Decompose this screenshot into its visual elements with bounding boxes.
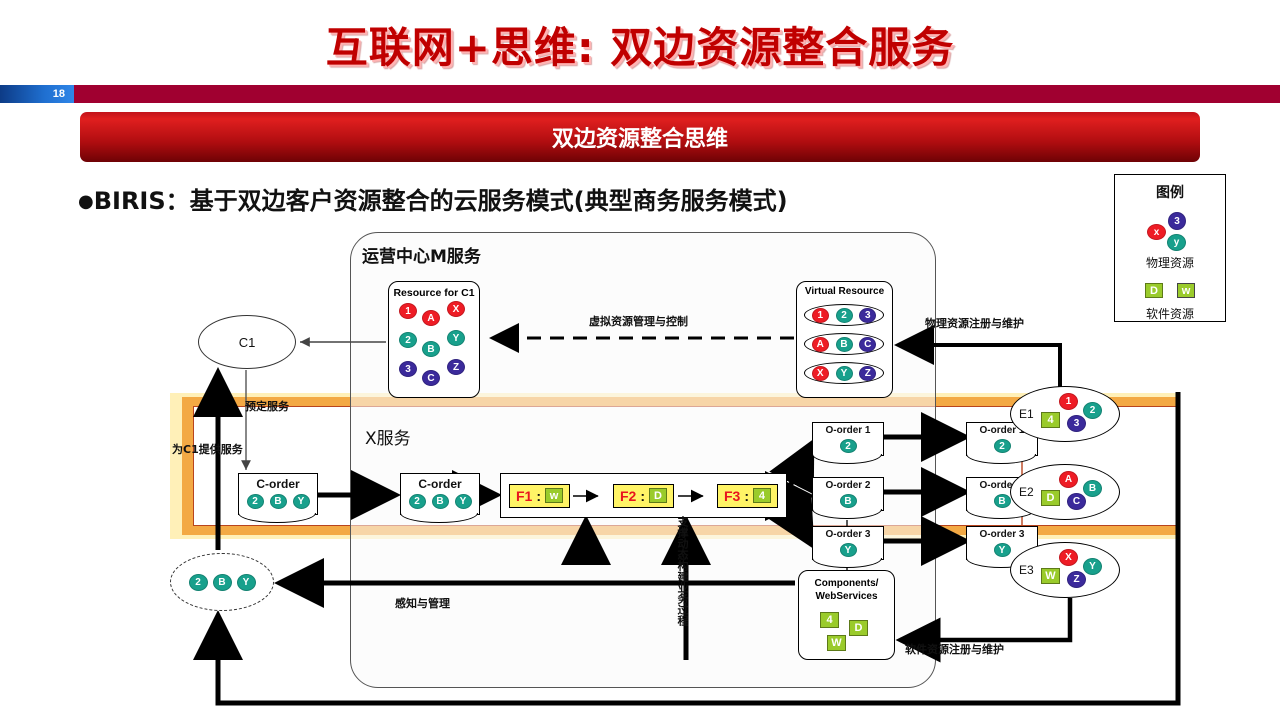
- virtual-resource-box: Virtual Resource 1 2 3 A B C X Y Z: [796, 281, 893, 398]
- o-order-left-3: O-order 3 Y: [812, 526, 884, 560]
- o-order-left-3-chip: Y: [840, 543, 857, 557]
- o-order-left-1-chips: 2: [813, 439, 883, 453]
- o-order-left-1-chip: 2: [840, 439, 857, 453]
- function-f2-badge: D: [649, 488, 667, 503]
- vres-token-3: 3: [859, 308, 876, 323]
- c-order-1-chip-y: Y: [293, 494, 310, 509]
- label-serve-c1: 为C1提供服务: [172, 441, 243, 457]
- c-order-2-title: C-order: [401, 477, 479, 491]
- c-order-1-chips: 2 B Y: [239, 494, 317, 509]
- c-order-2: C-order 2 B Y: [400, 473, 480, 515]
- res-c1-token-z: Z: [447, 359, 465, 375]
- virtual-resource-row-2: A B C: [804, 333, 884, 355]
- o-order-right-2-chip: B: [994, 494, 1011, 508]
- res-c1-token-b: B: [422, 341, 440, 357]
- vres-token-2: 2: [836, 308, 853, 323]
- c-order-1-title: C-order: [239, 477, 317, 491]
- res-c1-token-a: A: [422, 310, 440, 326]
- enterprise-e1-name: E1: [1019, 407, 1034, 421]
- e2-token-b: B: [1083, 480, 1102, 497]
- vres-token-a: A: [812, 337, 829, 352]
- function-f3-badge: 4: [753, 488, 771, 503]
- function-f1-sep: :: [536, 488, 541, 504]
- components-token-d: D: [849, 620, 868, 636]
- function-f1: F1 : w: [509, 484, 570, 508]
- res-c1-token-y: Y: [447, 330, 465, 346]
- c-order-1: C-order 2 B Y: [238, 473, 318, 515]
- label-virtual-control: 虚拟资源管理与控制: [589, 313, 688, 329]
- o-order-left-2-chip: B: [840, 494, 857, 508]
- e3-token-w: W: [1041, 568, 1060, 584]
- enterprise-e1: E1 1 2 3 4: [1010, 386, 1120, 442]
- dash-token-y: Y: [237, 574, 256, 591]
- dashed-resource-group: 2 B Y: [170, 553, 274, 611]
- vres-token-z: Z: [859, 366, 876, 381]
- c1-node: C1: [198, 315, 296, 369]
- label-perceive-manage: 感知与管理: [395, 595, 450, 611]
- o-order-left-1-title: O-order 1: [813, 425, 883, 436]
- label-physical-register: 物理资源注册与维护: [925, 315, 1024, 331]
- function-f3-sep: :: [744, 488, 749, 504]
- label-x-service: X服务: [365, 424, 411, 449]
- o-order-left-3-title: O-order 3: [813, 529, 883, 540]
- o-order-right-1-chip: 2: [994, 439, 1011, 453]
- e1-token-2: 2: [1083, 402, 1102, 419]
- e3-token-y: Y: [1083, 558, 1102, 575]
- dash-token-b: B: [213, 574, 232, 591]
- function-f3-name: F3: [724, 488, 740, 504]
- res-c1-token-1: 1: [399, 303, 417, 319]
- function-f2: F2 : D: [613, 484, 674, 508]
- enterprise-e3-name: E3: [1019, 563, 1034, 577]
- virtual-resource-row-1: 1 2 3: [804, 304, 884, 326]
- components-title-line2: WebServices: [799, 590, 894, 603]
- res-c1-token-c: C: [422, 370, 440, 386]
- e1-token-1: 1: [1059, 393, 1078, 410]
- e1-token-3: 3: [1067, 415, 1086, 432]
- components-webservices-box: Components/ WebServices 4 D W: [798, 570, 895, 660]
- function-f1-name: F1: [516, 488, 532, 504]
- vres-token-b: B: [836, 337, 853, 352]
- c-order-2-chip-b: B: [432, 494, 449, 509]
- c-order-2-chips: 2 B Y: [401, 494, 479, 509]
- o-order-right-1-chips: 2: [967, 439, 1037, 453]
- o-order-left-2-title: O-order 2: [813, 480, 883, 491]
- e2-token-d: D: [1041, 490, 1060, 506]
- res-c1-token-x: X: [447, 301, 465, 317]
- c-order-1-chip-2: 2: [247, 494, 264, 509]
- o-order-left-2-chips: B: [813, 494, 883, 508]
- enterprise-e3: E3 X Y Z W: [1010, 542, 1120, 598]
- function-f2-name: F2: [620, 488, 636, 504]
- label-support-dynamic: 支撑动态构建业务过程: [676, 516, 688, 626]
- label-software-register: 软件资源注册与维护: [905, 641, 1004, 657]
- e3-token-x: X: [1059, 549, 1078, 566]
- o-order-right-3-chip: Y: [994, 543, 1011, 557]
- architecture-diagram: 运营中心M服务: [0, 0, 1280, 720]
- components-title-line1: Components/: [799, 577, 894, 590]
- e1-token-4: 4: [1041, 412, 1060, 428]
- function-chain: F1 : w F2 : D F3 : 4: [500, 473, 787, 518]
- function-f3: F3 : 4: [717, 484, 778, 508]
- c-order-2-chip-y: Y: [455, 494, 472, 509]
- o-order-left-3-chips: Y: [813, 543, 883, 557]
- o-order-left-1: O-order 1 2: [812, 422, 884, 456]
- virtual-resource-row-3: X Y Z: [804, 362, 884, 384]
- res-c1-token-2: 2: [399, 332, 417, 348]
- vres-token-y: Y: [836, 366, 853, 381]
- e2-token-c: C: [1067, 493, 1086, 510]
- virtual-resource-title: Virtual Resource: [797, 286, 892, 297]
- enterprise-e2: E2 A B C D: [1010, 464, 1120, 520]
- components-token-w: W: [827, 635, 846, 651]
- diagram-connectors: [0, 0, 1280, 720]
- e2-token-a: A: [1059, 471, 1078, 488]
- dash-token-2: 2: [189, 574, 208, 591]
- o-order-left-2: O-order 2 B: [812, 477, 884, 511]
- c-order-2-chip-2: 2: [409, 494, 426, 509]
- components-token-4: 4: [820, 612, 839, 628]
- vres-token-c: C: [859, 337, 876, 352]
- function-f1-badge: w: [545, 488, 563, 503]
- label-booking-service: 预定服务: [245, 398, 289, 414]
- vres-token-1: 1: [812, 308, 829, 323]
- res-c1-token-3: 3: [399, 361, 417, 377]
- resource-for-c1-box: Resource for C1 1 A X 2 B Y 3 C Z: [388, 281, 480, 398]
- e3-token-z: Z: [1067, 571, 1086, 588]
- c-order-1-chip-b: B: [270, 494, 287, 509]
- function-f2-sep: :: [640, 488, 645, 504]
- resource-for-c1-title: Resource for C1: [389, 287, 479, 299]
- vres-token-x: X: [812, 366, 829, 381]
- enterprise-e2-name: E2: [1019, 485, 1034, 499]
- o-order-right-3-title: O-order 3: [967, 529, 1037, 540]
